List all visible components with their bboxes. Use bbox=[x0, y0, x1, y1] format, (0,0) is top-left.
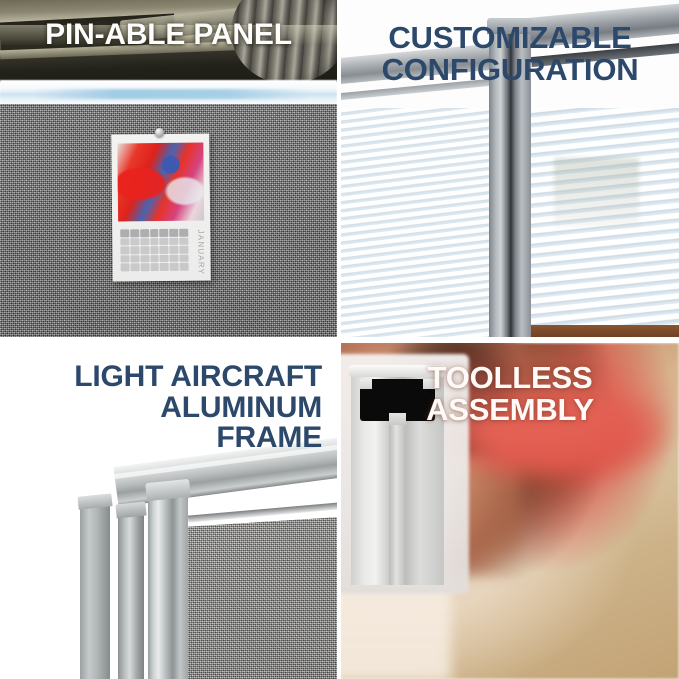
headline-pin-able-panel: PIN-ABLE PANEL bbox=[0, 20, 337, 51]
aluminum-post-second bbox=[118, 513, 144, 679]
calendar-grid bbox=[120, 229, 188, 272]
push-pin-icon bbox=[155, 128, 164, 137]
wall-calendar: JANUARY bbox=[111, 133, 211, 281]
window-blinds-left bbox=[341, 108, 496, 337]
extrusion-center-rib bbox=[389, 425, 405, 585]
headline-customizable-configuration: CUSTOMIZABLE CONFIGURATION bbox=[341, 22, 679, 85]
light-fixture-icon bbox=[0, 80, 337, 106]
calendar-artwork bbox=[117, 143, 204, 222]
aluminum-post-main bbox=[148, 493, 188, 679]
aluminum-post-third bbox=[80, 503, 110, 679]
headline-light-aircraft-aluminum-frame: LIGHT AIRCRAFT ALUMINUM FRAME bbox=[0, 362, 330, 454]
headline-toolless-assembly: TOOLLESS ASSEMBLY bbox=[341, 362, 679, 425]
wood-sill-trim bbox=[527, 325, 679, 337]
window-blinds-right bbox=[527, 108, 679, 337]
feature-grid: JANUARY bbox=[0, 0, 679, 679]
gray-fabric-infill bbox=[186, 517, 337, 679]
calendar-month-label: JANUARY bbox=[192, 230, 205, 269]
